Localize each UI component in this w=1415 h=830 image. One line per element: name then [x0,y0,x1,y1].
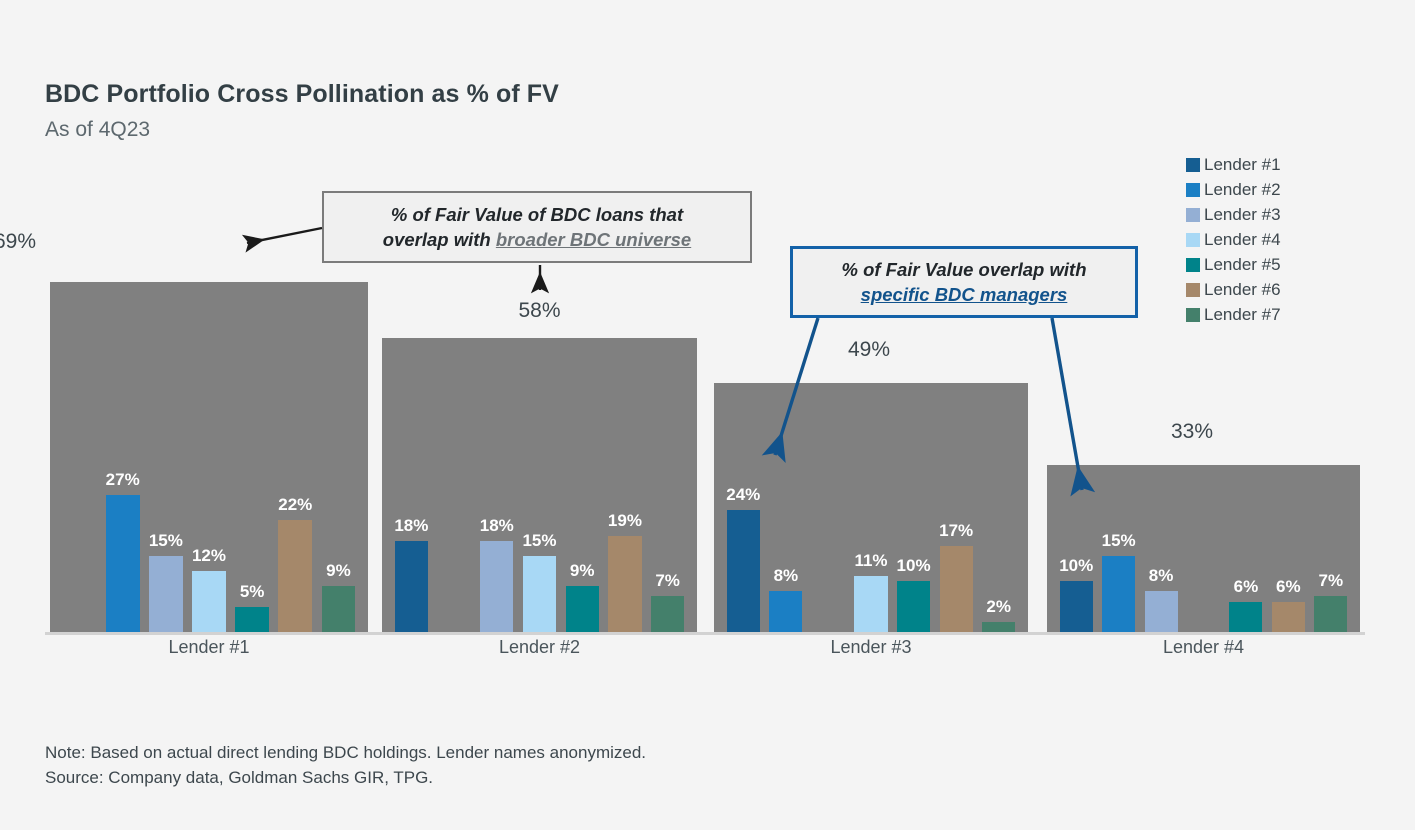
page-subtitle: As of 4Q23 [45,118,150,142]
bar-value-label: 15% [509,531,570,551]
callout2-line1: % of Fair Value overlap with [841,257,1086,282]
legend-item-label: Lender #6 [1204,280,1281,300]
bar-value-label: 24% [713,485,774,505]
bar-value-label: 19% [594,511,655,531]
arrow-to-group3-bar [775,318,818,455]
legend-item-3[interactable]: Lender #3 [1186,202,1281,227]
bar-value-label: 18% [381,516,442,536]
bar-1-5[interactable] [235,607,269,632]
bar-1-3[interactable] [149,556,183,632]
bar-4-7[interactable] [1314,596,1347,632]
bar-value-label: 22% [264,495,326,515]
x-axis-label-4: Lender #4 [1047,637,1360,658]
legend-item-label: Lender #5 [1204,255,1281,275]
bar-4-5[interactable] [1229,602,1262,632]
bar-value-label: 11% [840,551,901,571]
specific-managers-callout: % of Fair Value overlap with specific BD… [790,246,1138,318]
bar-value-label: 10% [1046,556,1107,576]
bar-1-6[interactable] [278,520,312,632]
bar-value-label: 15% [1088,531,1149,551]
legend-item-label: Lender #4 [1204,230,1281,250]
bar-4-2[interactable] [1102,556,1135,632]
group-total-label: 69% [0,230,90,254]
bar-2-1[interactable] [395,541,428,632]
legend-item-2[interactable]: Lender #2 [1186,177,1281,202]
bar-3-6[interactable] [940,546,973,632]
bar-value-label: 6% [1258,577,1319,597]
bar-1-7[interactable] [322,586,356,632]
bar-2-4[interactable] [523,556,556,632]
page-title: BDC Portfolio Cross Pollination as % of … [45,80,559,109]
chart-plot-area: 69%27%15%12%5%22%9%Lender #158%18%18%15%… [0,0,1415,830]
legend-item-1[interactable]: Lender #1 [1186,152,1281,177]
x-axis-label-1: Lender #1 [50,637,368,658]
bar-3-1[interactable] [727,510,760,632]
group-total-label: 49% [794,338,944,362]
bar-value-label: 7% [637,571,698,591]
legend-swatch-icon [1186,158,1200,172]
legend-item-label: Lender #3 [1204,205,1281,225]
group-total-label: 33% [1117,420,1267,444]
legend-item-6[interactable]: Lender #6 [1186,277,1281,302]
legend-item-label: Lender #2 [1204,180,1281,200]
bar-1-4[interactable] [192,571,226,632]
group-total-box [382,338,697,632]
bar-value-label: 8% [755,566,816,586]
bar-value-label: 7% [1300,571,1361,591]
callout-arrows [0,0,1415,830]
bar-value-label: 8% [1131,566,1192,586]
arrow-to-total-69 [247,228,322,243]
callout1-line2-plain: overlap with [383,229,496,250]
bar-value-label: 15% [135,531,197,551]
bar-value-label: 17% [926,521,987,541]
bar-3-2[interactable] [769,591,802,632]
callout1-line1: % of Fair Value of BDC loans that [391,202,683,227]
bar-value-label: 12% [178,546,240,566]
legend-item-7[interactable]: Lender #7 [1186,302,1281,327]
arrow-to-group4-bar [1052,318,1082,490]
bar-value-label: 18% [466,516,527,536]
legend-swatch-icon [1186,283,1200,297]
bar-2-7[interactable] [651,596,684,632]
bar-3-4[interactable] [854,576,887,632]
bar-4-1[interactable] [1060,581,1093,632]
legend-item-label: Lender #7 [1204,305,1281,325]
broader-universe-callout: % of Fair Value of BDC loans that overla… [322,191,752,263]
legend-swatch-icon [1186,258,1200,272]
group-total-box [50,282,368,632]
legend-item-label: Lender #1 [1204,155,1281,175]
legend-item-5[interactable]: Lender #5 [1186,252,1281,277]
x-axis-line [45,632,1365,635]
bar-1-2[interactable] [106,495,140,632]
bar-3-5[interactable] [897,581,930,632]
bar-value-label: 6% [1215,577,1276,597]
bar-3-7[interactable] [982,622,1015,632]
footer-source: Source: Company data, Goldman Sachs GIR,… [45,765,646,790]
group-total-box [1047,465,1360,632]
bar-value-label: 10% [883,556,944,576]
footer-note: Note: Based on actual direct lending BDC… [45,740,646,765]
legend-swatch-icon [1186,208,1200,222]
callout1-line2-underlined: broader BDC universe [496,229,691,250]
x-axis-label-3: Lender #3 [714,637,1028,658]
bar-value-label: 5% [221,582,283,602]
bar-2-3[interactable] [480,541,513,632]
legend-swatch-icon [1186,183,1200,197]
legend-swatch-icon [1186,233,1200,247]
footer-notes: Note: Based on actual direct lending BDC… [45,740,646,790]
group-total-label: 58% [342,299,737,323]
callout2-line2-underlined: specific BDC managers [861,282,1068,307]
bar-2-6[interactable] [608,536,641,632]
bar-2-5[interactable] [566,586,599,632]
chart-legend: Lender #1Lender #2Lender #3Lender #4Lend… [1186,152,1281,327]
x-axis-label-2: Lender #2 [382,637,697,658]
group-total-box [714,383,1028,632]
bar-4-6[interactable] [1272,602,1305,632]
bar-value-label: 2% [968,597,1029,617]
callout1-line2: overlap with broader BDC universe [383,227,691,252]
bar-value-label: 9% [308,561,370,581]
bar-value-label: 9% [552,561,613,581]
bar-value-label: 27% [92,470,154,490]
legend-swatch-icon [1186,308,1200,322]
legend-item-4[interactable]: Lender #4 [1186,227,1281,252]
bar-4-3[interactable] [1145,591,1178,632]
